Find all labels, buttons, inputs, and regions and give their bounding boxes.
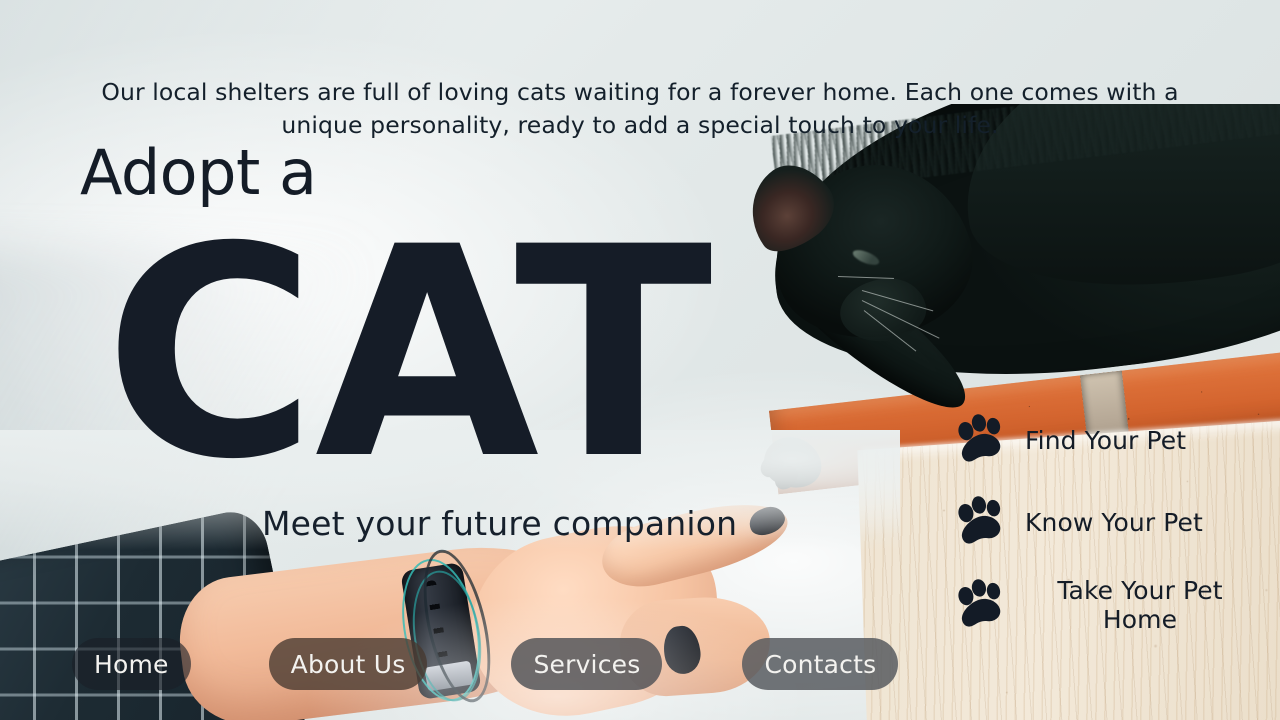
feature-item-find-your-pet[interactable]: Find Your Pet [955,412,1255,468]
hero-slide: Our local shelters are full of loving ca… [0,0,1280,720]
paw-print-icon [955,494,1011,550]
tagline-text: Meet your future companion [262,504,737,543]
paw-print-icon [955,577,1011,633]
feature-label: Take Your Pet Home [1025,576,1255,634]
page-title: CAT [104,210,711,500]
nav-item-about-us[interactable]: About Us [269,638,428,690]
feature-label: Know Your Pet [1025,508,1203,537]
feature-label: Find Your Pet [1025,426,1186,455]
nav-item-home[interactable]: Home [72,638,191,690]
nav-item-contacts[interactable]: Contacts [742,638,898,690]
feature-item-know-your-pet[interactable]: Know Your Pet [955,494,1255,550]
feature-list: Find Your Pet Know Your Pet [955,412,1255,634]
feature-item-take-your-pet-home[interactable]: Take Your Pet Home [955,576,1255,634]
paw-print-icon [955,412,1011,468]
intro-paragraph: Our local shelters are full of loving ca… [90,76,1190,142]
main-navigation: Home About Us Services Contacts [72,638,898,690]
nav-item-services[interactable]: Services [511,638,662,690]
